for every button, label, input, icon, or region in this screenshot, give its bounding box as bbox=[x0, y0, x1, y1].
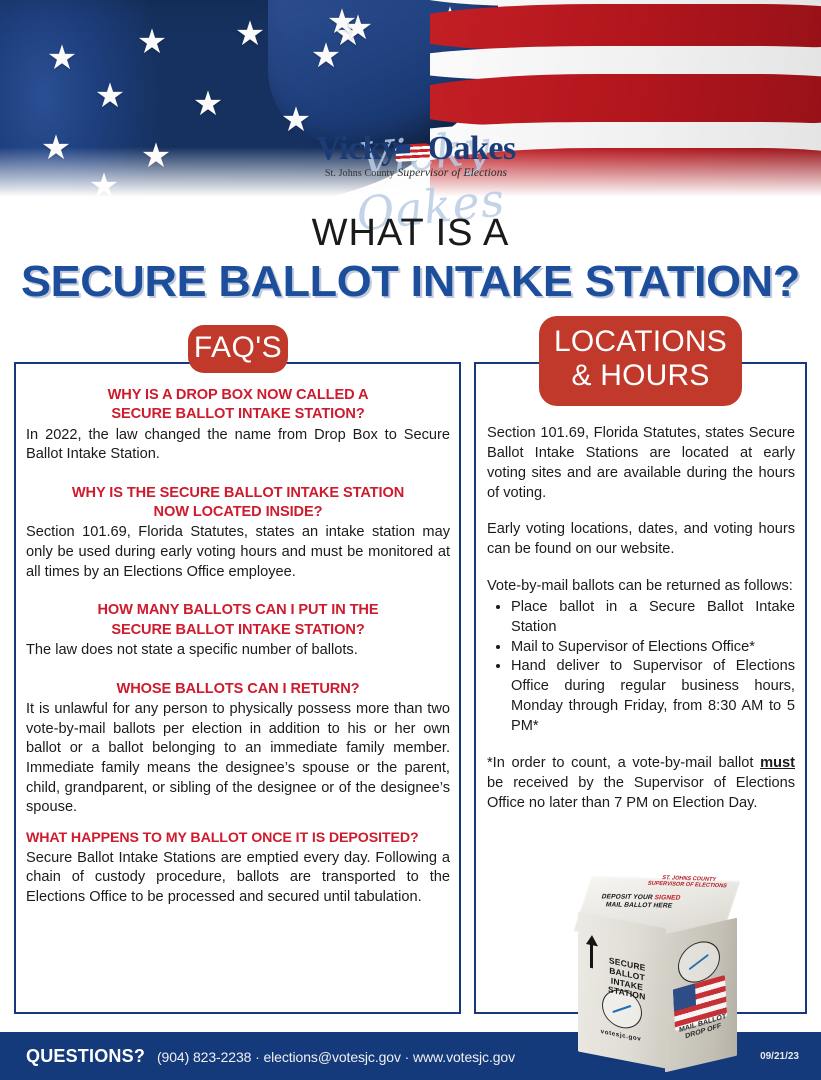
footnote-post: be received by the Supervisor of Electio… bbox=[487, 775, 795, 811]
list-item: Mail to Supervisor of Elections Office* bbox=[511, 638, 795, 658]
locations-paragraph: Section 101.69, Florida Statutes, states… bbox=[487, 424, 795, 503]
locations-footnote: *In order to count, a vote-by-mail ballo… bbox=[487, 754, 795, 814]
faq-question: WHY IS A DROP BOX NOW CALLED A SECURE BA… bbox=[26, 386, 450, 425]
faq-question-line: NOW LOCATED INSIDE? bbox=[26, 503, 450, 522]
american-flag-icon bbox=[395, 143, 430, 162]
faq-question-line: SECURE BALLOT INTAKE STATION? bbox=[26, 405, 450, 424]
ballot-return-list: Place ballot in a Secure Ballot Intake S… bbox=[487, 598, 795, 737]
locations-paragraph: Vote-by-mail ballots can be returned as … bbox=[487, 577, 795, 597]
faq-item: WHOSE BALLOTS CAN I RETURN? It is unlawf… bbox=[26, 680, 450, 818]
locations-hours-badge: LOCATIONS & HOURS bbox=[539, 316, 742, 406]
logo-first-name: Vicky bbox=[316, 130, 397, 167]
faq-item: WHY IS A DROP BOX NOW CALLED A SECURE BA… bbox=[26, 386, 450, 465]
faq-question-line: WHY IS A DROP BOX NOW CALLED A bbox=[26, 386, 450, 405]
faq-answer: The law does not state a specific number… bbox=[26, 641, 450, 661]
page-title-main: SECURE BALLOT INTAKE STATION? bbox=[0, 257, 821, 307]
faq-question: HOW MANY BALLOTS CAN I PUT IN THE SECURE… bbox=[26, 601, 450, 640]
locations-badge-line2: & HOURS bbox=[539, 360, 742, 392]
footnote-pre: *In order to count, a vote-by-mail ballo… bbox=[487, 755, 760, 771]
faq-item: WHAT HAPPENS TO MY BALLOT ONCE IT IS DEP… bbox=[26, 829, 450, 908]
footer-contact-info[interactable]: (904) 823-2238 · elections@votesjc.gov ·… bbox=[157, 1049, 515, 1065]
list-item: Place ballot in a Secure Ballot Intake S… bbox=[511, 598, 795, 638]
faq-badge: FAQ'S bbox=[188, 325, 288, 373]
faq-question-line: SECURE BALLOT INTAKE STATION? bbox=[26, 621, 450, 640]
footer-questions-label: QUESTIONS? bbox=[26, 1046, 145, 1067]
list-item: Hand deliver to Supervisor of Elections … bbox=[511, 657, 795, 736]
logo-subtitle: St. Johns County Supervisor of Elections bbox=[306, 167, 526, 179]
logo-last-name: Oakes bbox=[428, 130, 516, 167]
faq-answer: Section 101.69, Florida Statutes, states… bbox=[26, 523, 450, 582]
faq-question-line: WHOSE BALLOTS CAN I RETURN? bbox=[26, 680, 450, 699]
faq-question-line: WHY IS THE SECURE BALLOT INTAKE STATION bbox=[26, 484, 450, 503]
locations-paragraph: Early voting locations, dates, and votin… bbox=[487, 520, 795, 560]
faq-answer: In 2022, the law changed the name from D… bbox=[26, 426, 450, 465]
logo-wordmark: VickyOakes bbox=[306, 132, 526, 166]
faq-item: WHY IS THE SECURE BALLOT INTAKE STATION … bbox=[26, 484, 450, 583]
faq-question: WHOSE BALLOTS CAN I RETURN? bbox=[26, 680, 450, 699]
faq-question-line: WHAT HAPPENS TO MY BALLOT ONCE IT IS DEP… bbox=[26, 829, 450, 848]
flyer-page: Vicky Oakes VickyOakes St. Johns County … bbox=[0, 0, 821, 1080]
faq-answer: It is unlawful for any person to physica… bbox=[26, 700, 450, 818]
faq-answer: Secure Ballot Intake Stations are emptie… bbox=[26, 849, 450, 908]
locations-badge-line1: LOCATIONS bbox=[554, 325, 727, 358]
page-title-small: WHAT IS A bbox=[0, 212, 821, 255]
faq-item: HOW MANY BALLOTS CAN I PUT IN THE SECURE… bbox=[26, 601, 450, 660]
footnote-must: must bbox=[760, 755, 795, 771]
faq-content: WHY IS A DROP BOX NOW CALLED A SECURE BA… bbox=[26, 386, 450, 908]
logo-county: St. Johns County bbox=[325, 168, 395, 179]
faq-question: WHY IS THE SECURE BALLOT INTAKE STATION … bbox=[26, 484, 450, 523]
locations-content: Section 101.69, Florida Statutes, states… bbox=[487, 424, 795, 813]
faq-question-line: HOW MANY BALLOTS CAN I PUT IN THE bbox=[26, 601, 450, 620]
footer-date: 09/21/23 bbox=[760, 1051, 799, 1062]
logo: Vicky Oakes VickyOakes St. Johns County … bbox=[306, 132, 526, 188]
ballot-box-photo: ST. JOHNS COUNTY SUPERVISOR OF ELECTIONS… bbox=[566, 872, 750, 1062]
logo-role: Supervisor of Elections bbox=[398, 167, 508, 179]
faq-question: WHAT HAPPENS TO MY BALLOT ONCE IT IS DEP… bbox=[26, 829, 450, 848]
